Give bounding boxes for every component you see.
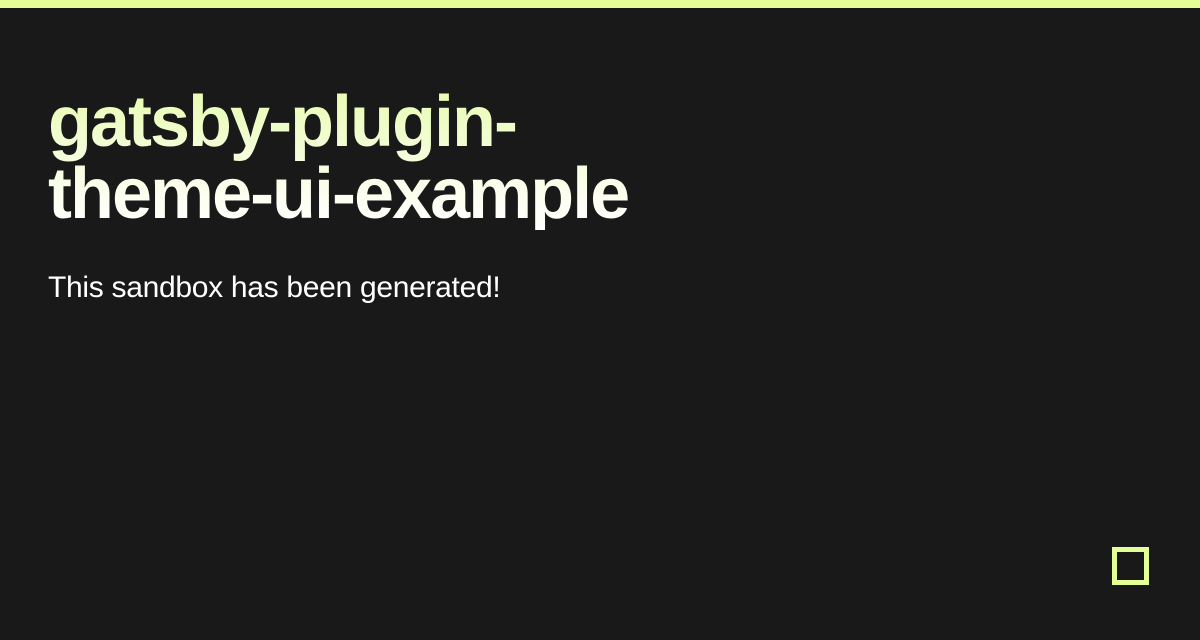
social-preview-card: gatsby-plugin- theme-ui-example This san… [0, 0, 1200, 640]
hero-content: gatsby-plugin- theme-ui-example This san… [48, 8, 1048, 306]
page-subtitle: This sandbox has been generated! [48, 230, 1048, 306]
top-accent-bar [0, 0, 1200, 8]
square-outline-icon [1112, 547, 1149, 585]
page-title: gatsby-plugin- theme-ui-example [48, 8, 748, 230]
